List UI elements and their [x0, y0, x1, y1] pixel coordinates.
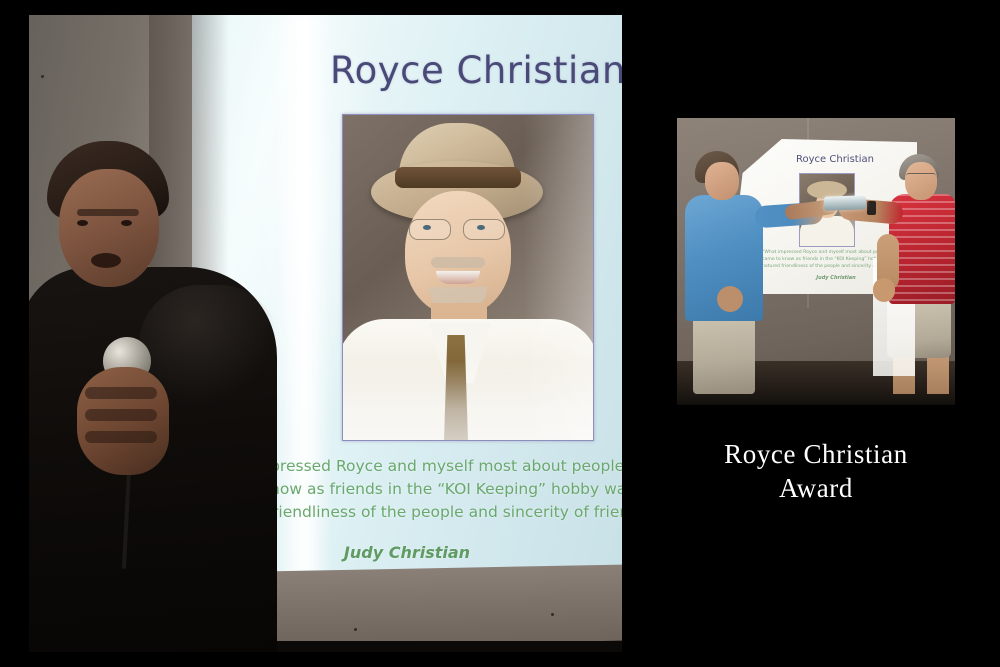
man-in-blue-shirt-pants [693, 312, 755, 394]
man-in-red-shirt-glasses-icon [906, 173, 936, 182]
dust-speck [41, 75, 44, 78]
portrait-smile [436, 271, 480, 284]
portrait-mustache [431, 257, 485, 268]
wristwatch-icon [867, 201, 876, 215]
inset-slide-title: Royce Christian [773, 154, 897, 165]
eyeglasses-icon [405, 219, 511, 239]
speaker-mouth [91, 253, 121, 268]
man-in-red-shirt-right-leg [927, 354, 949, 394]
projector-glare-side [523, 115, 593, 440]
speaker-left-eye [77, 220, 88, 226]
left-lens [409, 219, 451, 240]
fedora-hat-band [395, 167, 521, 188]
slide-title: Royce Christian [328, 49, 622, 92]
award-presentation-photo: Royce Christian “What impressed Royce an… [677, 118, 955, 405]
dust-speck [354, 628, 357, 631]
speaker-hand [77, 367, 169, 475]
caption-line-1: Royce Christian [677, 437, 955, 471]
portrait-right-eye [477, 225, 485, 230]
speaker-finger [85, 409, 157, 421]
speaker-brow [77, 209, 139, 216]
man-in-blue-shirt-hand [717, 286, 743, 312]
speaker-finger [85, 431, 157, 443]
right-lens [463, 219, 505, 240]
portrait-left-eye [423, 225, 431, 230]
dust-speck [551, 613, 554, 616]
speaker-with-microphone [29, 125, 264, 652]
presenter-at-podium-photo: Royce Christian “What i [29, 15, 622, 652]
royce-christian-portrait [342, 114, 594, 441]
speaker-finger [85, 387, 157, 399]
man-in-red-shirt-hand [873, 278, 895, 302]
speaker-face [59, 169, 159, 287]
caption-line-2: Award [677, 471, 955, 505]
caption: Royce Christian Award [677, 437, 955, 505]
man-in-blue-shirt-face [705, 162, 739, 200]
award-plaque [824, 195, 866, 210]
speaker-right-eye [121, 220, 132, 226]
photo-collage-canvas: Royce Christian “What i [0, 0, 1000, 667]
